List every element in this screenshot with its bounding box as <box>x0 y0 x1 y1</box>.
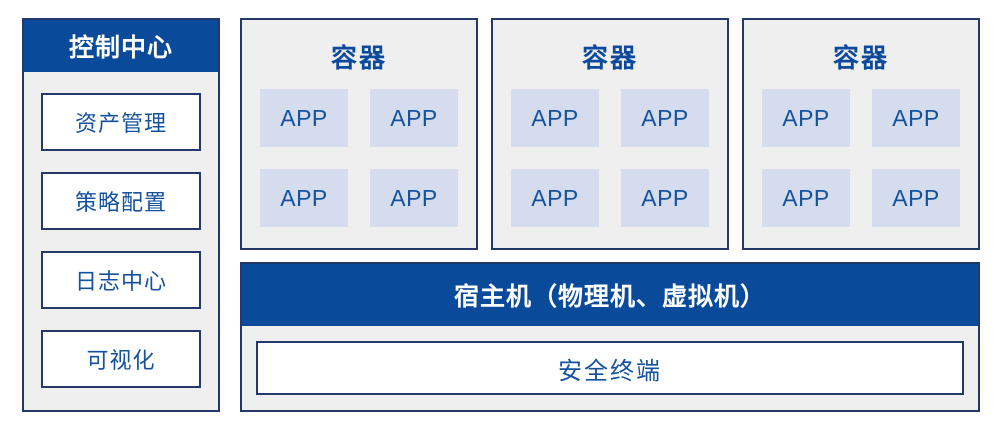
app-cell[interactable]: APP <box>370 89 458 147</box>
app-cell[interactable]: APP <box>872 89 960 147</box>
container-title: 容器 <box>331 38 387 75</box>
app-cell[interactable]: APP <box>370 169 458 227</box>
container-title: 容器 <box>833 38 889 75</box>
app-cell[interactable]: APP <box>260 169 348 227</box>
control-item-asset-management[interactable]: 资产管理 <box>41 93 201 151</box>
app-cell[interactable]: APP <box>872 169 960 227</box>
container-box-2: 容器 APP APP APP APP <box>491 18 729 250</box>
control-center-panel: 控制中心 资产管理 策略配置 日志中心 可视化 <box>22 18 220 412</box>
container-box-1: 容器 APP APP APP APP <box>240 18 478 250</box>
app-cell[interactable]: APP <box>762 89 850 147</box>
host-machine-header: 宿主机（物理机、虚拟机） <box>242 264 978 326</box>
app-cell[interactable]: APP <box>621 169 709 227</box>
control-item-visualization[interactable]: 可视化 <box>41 330 201 388</box>
host-machine-body: 安全终端 <box>242 326 978 410</box>
control-center-header: 控制中心 <box>24 20 218 72</box>
workload-area: 容器 APP APP APP APP 容器 APP APP APP APP <box>240 18 980 412</box>
host-machine-box: 宿主机（物理机、虚拟机） 安全终端 <box>240 262 980 412</box>
app-grid: APP APP APP APP <box>260 89 458 227</box>
control-item-log-center[interactable]: 日志中心 <box>41 251 201 309</box>
security-agent-box[interactable]: 安全终端 <box>256 341 964 395</box>
app-grid: APP APP APP APP <box>762 89 960 227</box>
architecture-diagram: 控制中心 资产管理 策略配置 日志中心 可视化 容器 APP APP APP A… <box>0 0 1001 437</box>
app-cell[interactable]: APP <box>621 89 709 147</box>
control-item-policy-configuration[interactable]: 策略配置 <box>41 172 201 230</box>
app-cell[interactable]: APP <box>260 89 348 147</box>
app-cell[interactable]: APP <box>511 89 599 147</box>
container-row: 容器 APP APP APP APP 容器 APP APP APP APP <box>240 18 980 250</box>
app-cell[interactable]: APP <box>762 169 850 227</box>
container-title: 容器 <box>582 38 638 75</box>
container-box-3: 容器 APP APP APP APP <box>742 18 980 250</box>
app-grid: APP APP APP APP <box>511 89 709 227</box>
app-cell[interactable]: APP <box>511 169 599 227</box>
control-center-item-list: 资产管理 策略配置 日志中心 可视化 <box>24 72 218 410</box>
